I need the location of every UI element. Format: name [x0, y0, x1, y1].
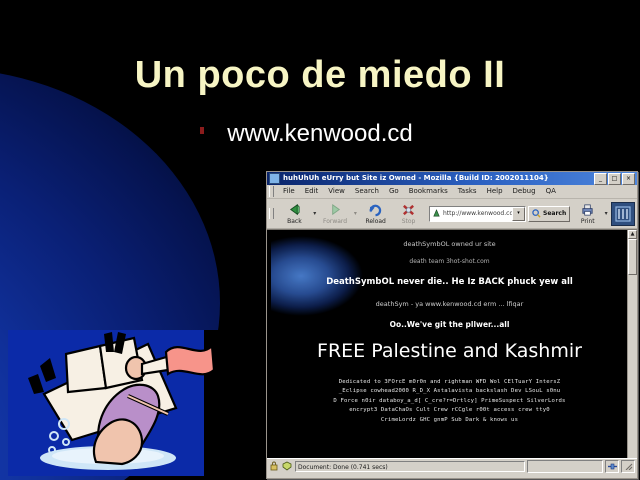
slide-subtitle: www.kenwood.cd [0, 120, 640, 148]
menu-item-tasks[interactable]: Tasks [453, 185, 482, 198]
search-magnifier-icon [532, 209, 541, 218]
resize-grip-icon[interactable] [621, 460, 635, 473]
print-button[interactable]: Print [573, 200, 602, 227]
presentation-slide: Un poco de miedo II www.kenwood.cd [0, 0, 640, 480]
menu-item-qa[interactable]: QA [541, 185, 561, 198]
minimize-button[interactable]: _ [594, 173, 607, 185]
search-button-label: Search [543, 210, 566, 217]
scrollbar-thumb[interactable] [628, 239, 637, 275]
status-message: Document: Done (0.741 secs) [295, 461, 525, 472]
menu-item-file[interactable]: File [278, 185, 300, 198]
url-input-value[interactable]: http://www.kenwood.cd/ [443, 210, 512, 217]
maximize-button[interactable]: □ [608, 173, 621, 185]
throbber-activity-indicator[interactable] [611, 202, 635, 226]
status-secondary-pane [527, 460, 603, 473]
window-grip-icon [624, 462, 633, 470]
page-content-area[interactable]: deathSymbOL owned ur site death team 3ho… [267, 229, 637, 458]
mozilla-browser-window[interactable]: huhUhUh eUrry but Site iz Owned - Mozill… [266, 171, 638, 479]
stop-icon [401, 203, 416, 217]
back-button-label: Back [287, 218, 302, 225]
page-line-3: DeathSymbOL never die.. He Iz BACK phuck… [271, 277, 628, 287]
reload-button[interactable]: Reload [359, 200, 392, 227]
status-bar: Document: Done (0.741 secs) [267, 458, 637, 473]
reload-icon [368, 203, 383, 217]
credits-line-1: Dedicated to 3FOrcE m0r0n and rightman W… [271, 378, 628, 387]
slide-title: Un poco de miedo II [0, 54, 640, 97]
credits-line-4: encrypt3 DataChaOs Cult Crew rCCgle r00t… [271, 406, 628, 415]
back-history-caret-icon[interactable]: ▾ [311, 210, 319, 217]
forward-button[interactable]: Forward [319, 200, 352, 227]
security-lock-icon[interactable] [269, 461, 279, 471]
back-arrow-icon [287, 203, 302, 217]
window-title-text: huhUhUh eUrry but Site iz Owned - Mozill… [283, 172, 593, 185]
menu-item-bookmarks[interactable]: Bookmarks [404, 185, 453, 198]
stop-button-label: Stop [402, 218, 416, 225]
forward-history-caret-icon[interactable]: ▾ [351, 210, 359, 217]
forward-button-label: Forward [323, 218, 347, 225]
credits-line-2: _Eclipse cowhead2000 R_D_X Astalavista b… [271, 387, 628, 396]
page-line-1: deathSymbOL owned ur site [271, 240, 628, 248]
toolbar-grip-handle[interactable] [269, 208, 274, 219]
menu-item-edit[interactable]: Edit [300, 185, 324, 198]
print-caret-icon[interactable]: ▾ [602, 210, 610, 217]
vertical-scrollbar[interactable]: ▲ [627, 230, 637, 458]
scroll-up-arrow-icon[interactable]: ▲ [628, 230, 637, 239]
menu-item-help[interactable]: Help [482, 185, 508, 198]
credits-line-3: D Force n0ir databoy_a_d[ C_cre?r=Drtlcy… [271, 397, 628, 406]
menu-item-view[interactable]: View [323, 185, 350, 198]
page-line-2: death team 3hot-shot.com [271, 258, 628, 265]
offline-online-toggle-icon[interactable] [605, 460, 619, 473]
printer-icon [580, 203, 595, 217]
menu-item-go[interactable]: Go [384, 185, 404, 198]
menubar-grip-handle[interactable] [269, 186, 274, 197]
menu-bar[interactable]: File Edit View Search Go Bookmarks Tasks… [267, 185, 637, 199]
close-button[interactable]: × [622, 173, 635, 185]
page-globe-icon [432, 209, 441, 218]
reload-button-label: Reload [365, 218, 385, 225]
window-titlebar[interactable]: huhUhUh eUrry but Site iz Owned - Mozill… [267, 172, 637, 185]
navigation-toolbar[interactable]: Back ▾ Forward ▾ Reload [267, 199, 637, 229]
menu-item-search[interactable]: Search [350, 185, 384, 198]
back-button[interactable]: Back [278, 200, 311, 227]
page-line-5: Oo..We've git the pllwer...all [271, 320, 628, 329]
menu-item-debug[interactable]: Debug [508, 185, 541, 198]
page-headline: FREE Palestine and Kashmir [271, 340, 628, 362]
mozilla-app-icon [269, 173, 280, 184]
page-line-4: deathSym - ya www.kenwood.cd erm ... lfi… [271, 300, 628, 308]
cartoon-clipart-illustration [8, 330, 230, 476]
url-address-bar[interactable]: http://www.kenwood.cd/ ▾ [429, 206, 526, 222]
page-credits-block: Dedicated to 3FOrcE m0r0n and rightman W… [271, 378, 628, 425]
mozilla-throbber-icon [615, 206, 631, 222]
search-button[interactable]: Search [528, 206, 570, 222]
plug-icon [608, 463, 617, 470]
defaced-webpage: deathSymbOL owned ur site death team 3ho… [271, 230, 628, 458]
forward-arrow-icon [328, 203, 343, 217]
cookie-shield-icon[interactable] [282, 461, 292, 471]
stop-button[interactable]: Stop [392, 200, 425, 227]
credits-line-5: CrimeLordz GHC gnmP Sub Dark & knows us [271, 416, 628, 425]
print-button-label: Print [581, 218, 595, 225]
url-dropdown-caret-icon[interactable]: ▾ [512, 207, 525, 221]
